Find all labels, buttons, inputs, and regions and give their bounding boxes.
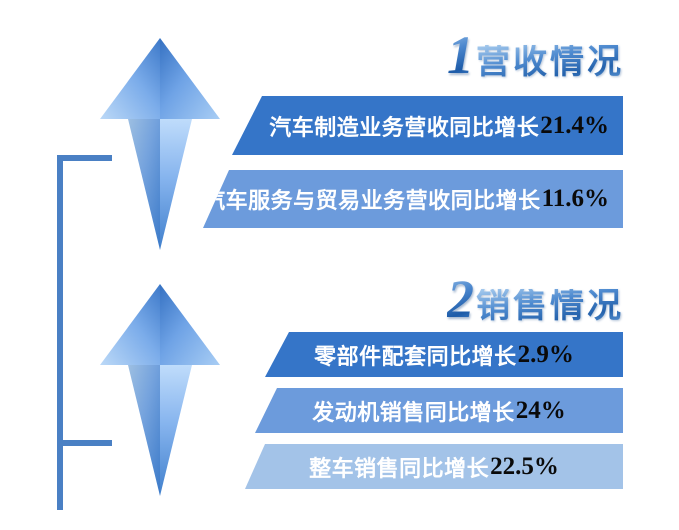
banner-value: 11.6% xyxy=(542,185,609,213)
banner-label: 汽车服务与贸易业务营收同比增长 xyxy=(203,183,541,215)
banner-label: 发动机销售同比增长 xyxy=(312,395,515,427)
arrow-sales xyxy=(95,268,225,508)
banner-label: 整车销售同比增长 xyxy=(309,451,489,483)
section-title-2: 销售情况 xyxy=(476,289,624,323)
section-heading-revenue: 1 营收情况 xyxy=(447,28,624,82)
banner-auto-manufacturing-revenue[interactable]: 汽车制造业务营收同比增长 21.4% xyxy=(232,96,623,155)
banner-vehicle-sales-growth[interactable]: 整车销售同比增长 22.5% xyxy=(245,444,623,489)
banner-value: 2.9% xyxy=(518,341,574,369)
banner-label: 汽车制造业务营收同比增长 xyxy=(269,110,539,142)
banner-value: 21.4% xyxy=(540,112,609,140)
infographic-root: 1 营收情况 汽车制造业务营收同比增长 21.4% 汽车服务与贸易业务营收同比增… xyxy=(0,0,679,530)
section-heading-sales: 2 销售情况 xyxy=(447,272,624,326)
banner-label: 零部件配套同比增长 xyxy=(314,339,517,371)
banner-value: 22.5% xyxy=(490,453,559,481)
banner-value: 24% xyxy=(516,397,566,425)
banner-parts-supply-growth[interactable]: 零部件配套同比增长 2.9% xyxy=(265,332,623,377)
banner-auto-service-trade-revenue[interactable]: 汽车服务与贸易业务营收同比增长 11.6% xyxy=(203,170,623,228)
bracket-vertical-stem xyxy=(57,155,63,510)
banner-engine-sales-growth[interactable]: 发动机销售同比增长 24% xyxy=(255,388,623,433)
section-number-1: 1 xyxy=(447,28,476,82)
section-title-1: 营收情况 xyxy=(476,45,624,79)
section-number-2: 2 xyxy=(447,272,476,326)
